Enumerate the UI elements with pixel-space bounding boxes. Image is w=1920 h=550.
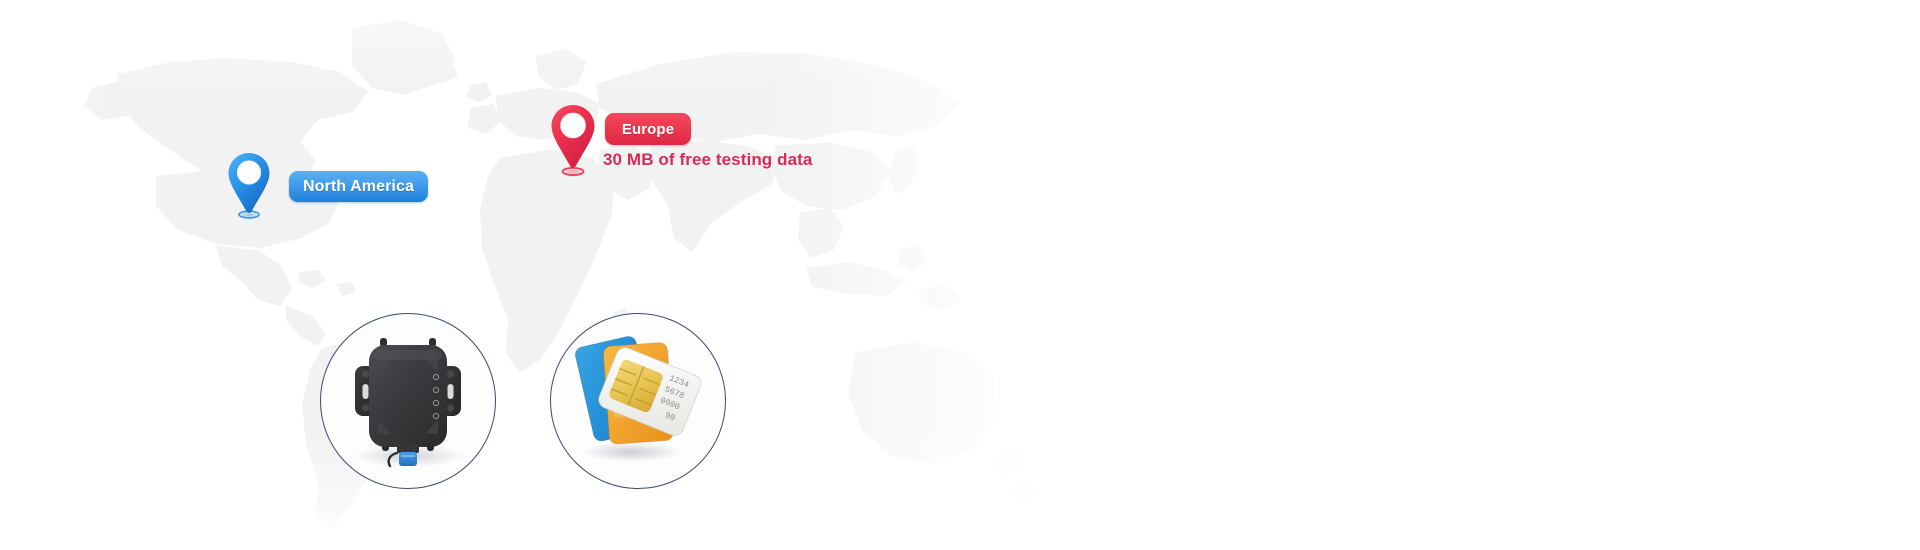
map-fade-overlay	[0, 0, 1920, 550]
free-testing-data-caption: 30 MB of free testing data	[603, 150, 812, 170]
world-map-landmasses	[84, 20, 1036, 528]
promo-banner: North America Europe 30	[0, 0, 1920, 550]
product-circle-gps-tracker[interactable]	[320, 313, 496, 489]
gps-tracker-device-icon	[321, 314, 495, 488]
badge-north-america[interactable]: North America	[289, 171, 428, 202]
world-map-background	[0, 0, 1920, 550]
map-pin-icon-north-america[interactable]	[226, 150, 274, 227]
product-circle-sim-cards[interactable]: 1234 1234	[550, 313, 726, 489]
sim-cards-icon: 1234 1234	[551, 314, 725, 488]
badge-north-america-label: North America	[303, 178, 414, 196]
badge-europe[interactable]: Europe	[605, 113, 691, 145]
badge-europe-label: Europe	[622, 121, 674, 138]
map-pin-icon-europe[interactable]	[548, 102, 600, 185]
